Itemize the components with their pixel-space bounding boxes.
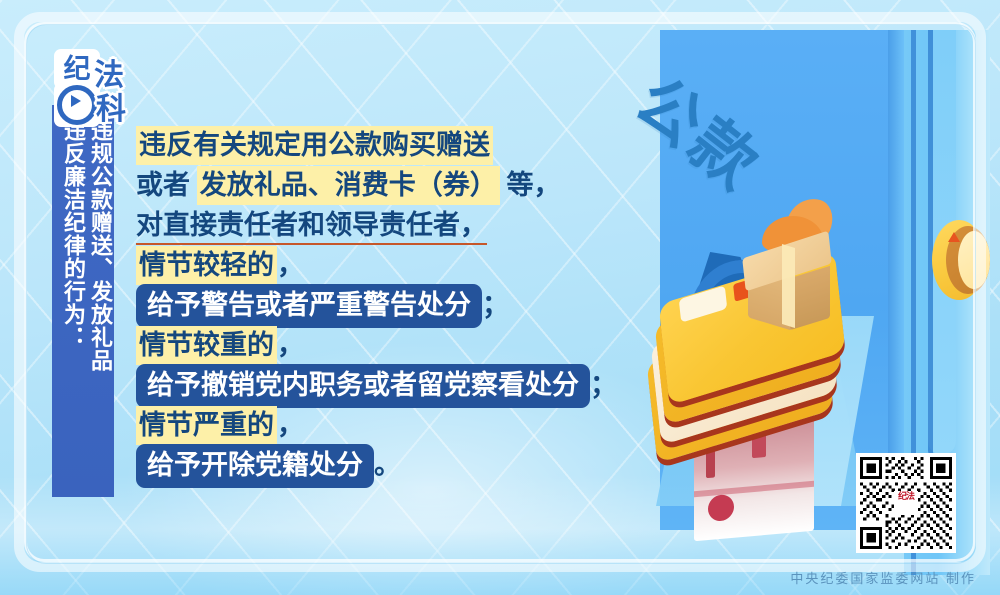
footer-credit: 中央纪委国家监委网站 制作: [790, 568, 976, 587]
line-2-prefix: 或者: [136, 170, 197, 200]
line-7-tail: ；: [590, 370, 617, 400]
qr-center-logo: 纪法: [894, 491, 918, 515]
line-3-underlined: 对直接责任者和领导责任者，: [136, 210, 487, 245]
line-4-highlight: 情节较轻的: [136, 246, 277, 285]
poster-root: 公款: [0, 0, 1000, 595]
text-line-5: 给予警告或者严重警告处分；: [136, 292, 656, 319]
text-line-8: 情节严重的，: [136, 412, 656, 439]
line-8-tail: ，: [277, 410, 304, 440]
banner-column-right: 违规公款赠送、发放礼品: [85, 119, 111, 372]
play-circle-icon: [57, 85, 97, 125]
text-line-4: 情节较轻的，: [136, 252, 656, 279]
line-4-tail: ，: [277, 250, 304, 280]
qr-logo-top: 纪法: [898, 491, 914, 501]
line-6-tail: ，: [277, 330, 304, 360]
logo-char-fa: 法: [94, 61, 124, 91]
text-line-7: 给予撤销党内职务或者留党察看处分；: [136, 372, 656, 399]
line-2-tail: 等，: [500, 170, 561, 200]
text-line-9: 给予开除党籍处分。: [136, 452, 656, 479]
line-1-highlight: 违反有关规定用公款购买赠送: [136, 126, 493, 165]
line-5-tail: ；: [482, 290, 509, 320]
regulation-text-block: 违反有关规定用公款购买赠送 或者 发放礼品、消费卡（券） 等， 对直接责任者和领…: [136, 132, 656, 492]
dial-face: [958, 231, 990, 289]
gift-ribbon: [782, 244, 795, 328]
qr-code[interactable]: 纪法: [856, 453, 956, 553]
line-2-highlight: 发放礼品、消费卡（券）: [197, 166, 500, 205]
line-9-pill: 给予开除党籍处分: [136, 444, 374, 488]
line-5-pill: 给予警告或者严重警告处分: [136, 284, 482, 328]
brand-logo-jifabaike: 纪 法 科: [50, 47, 146, 133]
line-7-pill: 给予撤销党内职务或者留党察看处分: [136, 364, 590, 408]
text-line-6: 情节较重的，: [136, 332, 656, 359]
line-8-highlight: 情节严重的: [136, 406, 277, 445]
vertical-title-banner: 违规公款赠送、发放礼品 违反廉洁纪律的行为：: [52, 105, 114, 497]
logo-char-ke: 科: [96, 95, 126, 125]
combination-dial-icon: [932, 220, 990, 300]
cash-seal-dot: [708, 494, 734, 522]
line-6-highlight: 情节较重的: [136, 326, 277, 365]
line-9-tail: 。: [374, 450, 401, 480]
gift-box-icon: [742, 238, 838, 330]
gift-body-right: [790, 266, 830, 330]
text-line-2: 或者 发放礼品、消费卡（券） 等，: [136, 172, 656, 199]
text-line-1: 违反有关规定用公款购买赠送: [136, 132, 656, 159]
dial-marker-triangle-icon: [948, 232, 960, 242]
cash-band-line: [694, 481, 814, 497]
text-line-3: 对直接责任者和领导责任者，: [136, 212, 656, 239]
banner-column-left: 违反廉洁纪律的行为：: [58, 119, 84, 349]
